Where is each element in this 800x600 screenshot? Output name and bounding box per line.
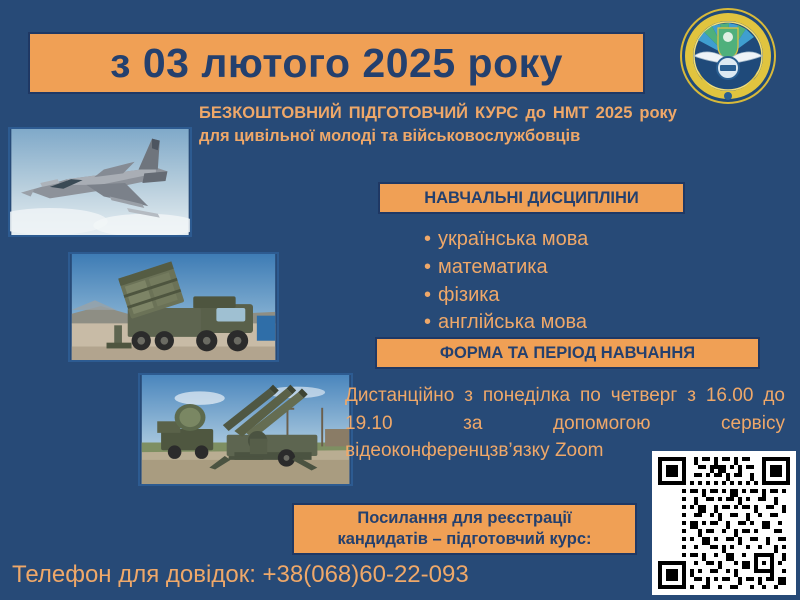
- subject-label: англійська мова: [438, 311, 587, 333]
- bullet-icon: •: [424, 309, 438, 337]
- bullet-icon: •: [424, 282, 438, 310]
- subject-label: українська мова: [438, 228, 588, 250]
- list-item: •фізика: [424, 282, 588, 310]
- contact-phone: Телефон для довідок: +38(068)60-22-093: [12, 561, 469, 589]
- poster-root: з 03 лютого 2025 року БЕЗКОШТОВНИЙ ПІДГО…: [0, 0, 800, 600]
- registration-banner: Посилання для реєстрації кандидатів – пі…: [292, 503, 637, 555]
- subject-label: математика: [438, 256, 548, 278]
- poster-title: з 03 лютого 2025 року: [110, 43, 563, 84]
- subject-label: фізика: [438, 284, 500, 306]
- university-emblem: [672, 4, 784, 108]
- list-item: •українська мова: [424, 226, 588, 254]
- fighter-jet-photo: [8, 127, 192, 237]
- schedule-header-label: ФОРМА ТА ПЕРІОД НАВЧАННЯ: [440, 344, 695, 363]
- list-item: •англійська мова: [424, 309, 588, 337]
- registration-line-2: кандидатів – підготовчий курс:: [337, 529, 591, 550]
- subject-list: •українська мова •математика •фізика •ан…: [424, 226, 588, 337]
- registration-line-1: Посилання для реєстрації: [357, 508, 571, 529]
- subjects-header-label: НАВЧАЛЬНІ ДИСЦИПЛІНИ: [424, 189, 639, 208]
- subjects-header-banner: НАВЧАЛЬНІ ДИСЦИПЛІНИ: [378, 182, 685, 214]
- title-banner: з 03 лютого 2025 року: [28, 32, 645, 94]
- schedule-header-banner: ФОРМА ТА ПЕРІОД НАВЧАННЯ: [375, 337, 760, 369]
- patriot-launcher-photo: [68, 252, 279, 362]
- bullet-icon: •: [424, 226, 438, 254]
- bullet-icon: •: [424, 254, 438, 282]
- list-item: •математика: [424, 254, 588, 282]
- registration-qr-code[interactable]: [652, 451, 796, 595]
- intro-paragraph: БЕЗКОШТОВНИЙ ПІДГОТОВЧИЙ КУРС до НМТ 202…: [199, 102, 677, 149]
- hawk-missile-launcher-photo: [138, 373, 353, 486]
